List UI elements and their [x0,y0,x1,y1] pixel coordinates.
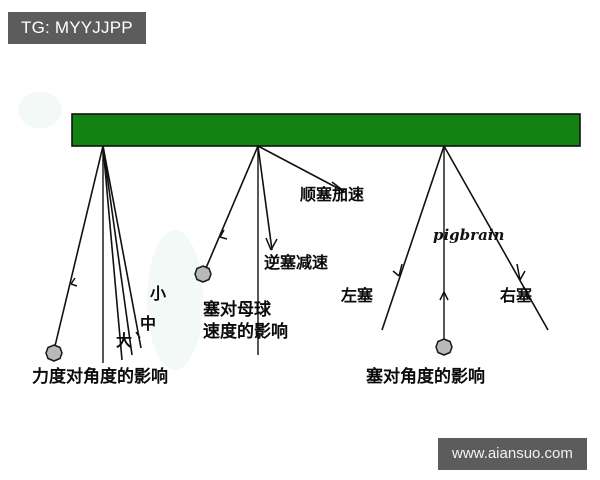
arrow-left-swing [71,278,77,286]
caption-force-angle: 力度对角度的影响 [32,366,168,387]
caption-english-angle: 塞对角度的影响 [366,366,485,387]
rod-swing-medium [103,146,132,355]
rod-reverse-english [258,146,272,250]
annotation-reverse-english: 逆塞减速 [264,253,328,272]
green-cushion-bar [72,114,580,146]
rod-swing-small [103,146,141,348]
ball-cue [46,345,62,361]
group-force-angle: 小 中 大 力度对角度的影响 [32,146,168,387]
scan-haze [18,92,62,128]
diagram-canvas: 小 中 大 力度对角度的影响 顺塞加速 逆塞减速 塞对母球 [0,0,600,480]
annotation-left-english: 左塞 [340,286,374,305]
annotation-running-english: 顺塞加速 [300,185,364,204]
caption-english-speed-line2: 速度的影响 [203,321,288,342]
label-swing-medium: 中 [140,314,156,333]
ball-cue [436,339,452,355]
rod-left-swing [206,146,258,268]
ball-cue [195,266,211,282]
center-watermark: pigbrain [433,226,504,244]
label-swing-large: 大 [116,331,132,350]
label-swing-small: 小 [150,284,166,303]
billiards-pendulum-diagram: 小 中 大 力度对角度的影响 顺塞加速 逆塞减速 塞对母球 [0,0,600,480]
tg-watermark-badge: TG: MYYJJPP [8,12,146,44]
group-english-speed: 顺塞加速 逆塞减速 塞对母球 速度的影响 [195,146,364,355]
caption-english-speed-line1: 塞对母球 [203,299,272,320]
annotation-right-english: 右塞 [500,286,533,305]
rod-swing-large [103,146,122,360]
group-english-angle: pigbrain 左塞 右塞 塞对角度的影响 [340,146,548,387]
rod-left-swing [55,146,103,346]
site-watermark-badge: www.aiansuo.com [438,438,587,470]
